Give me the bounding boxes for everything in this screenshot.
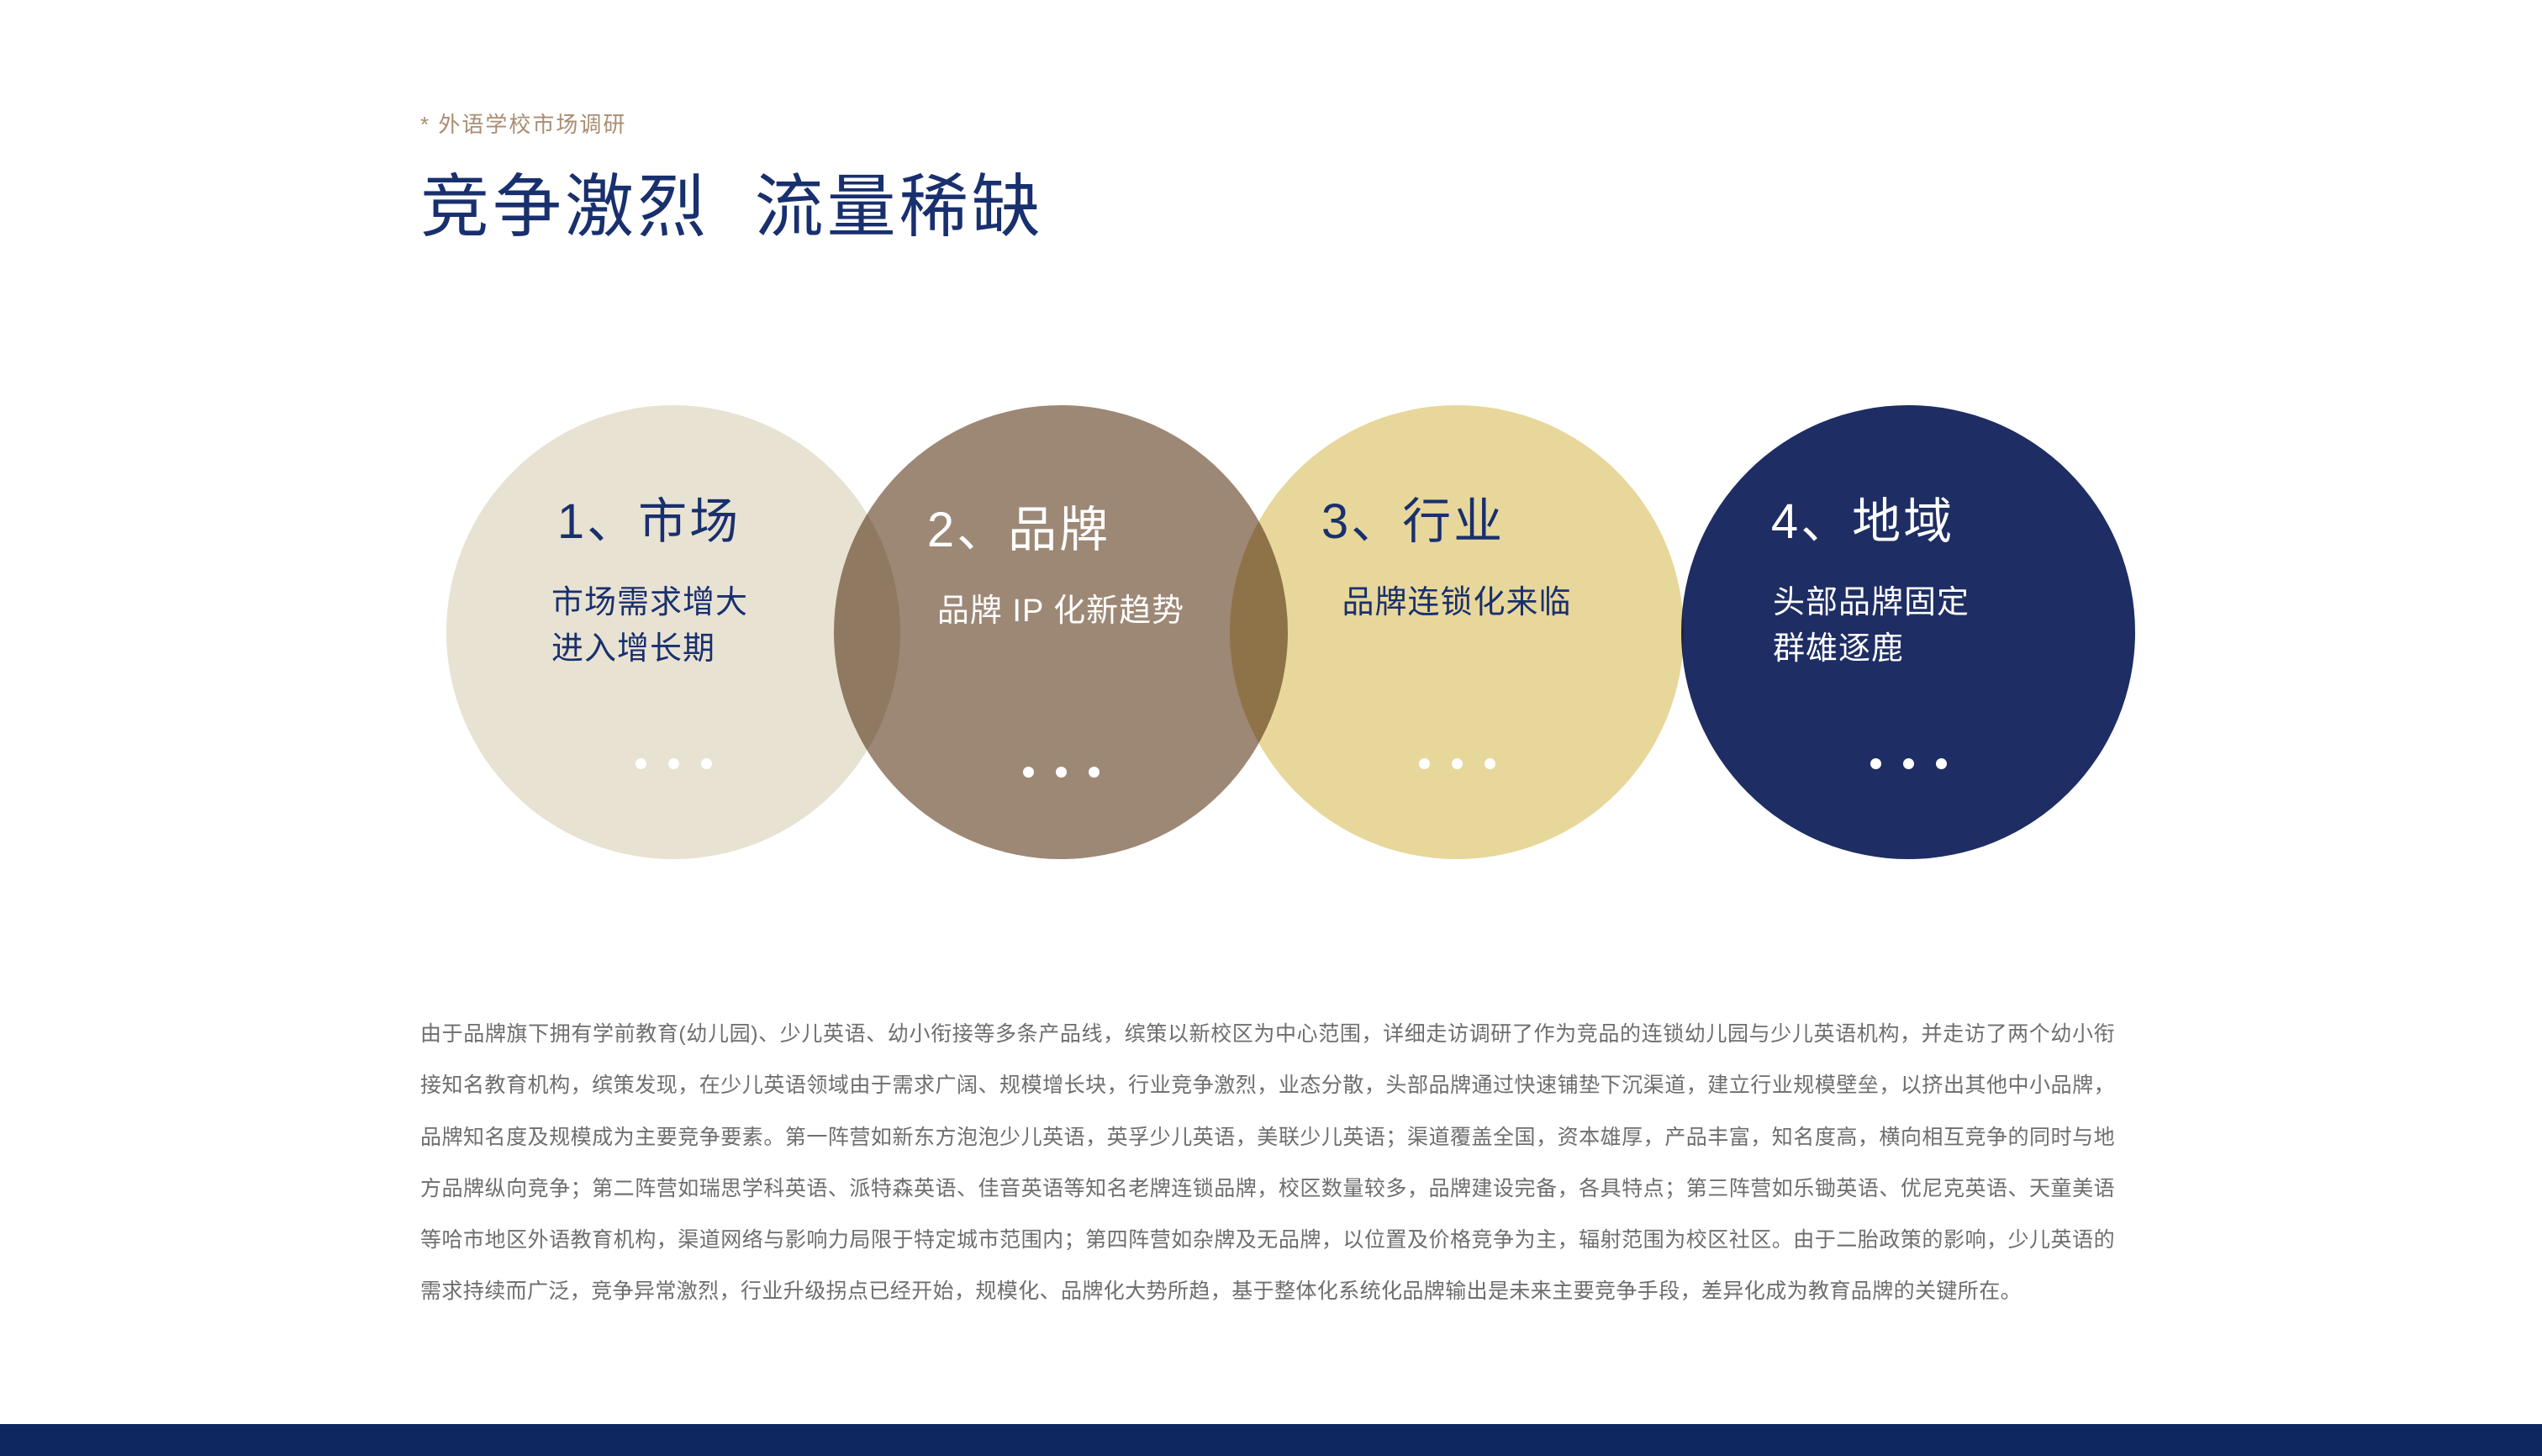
circle-region-content: 4、地域 头部品牌固定 群雄逐鹿 <box>1681 405 2135 859</box>
circle-industry-dots <box>1230 758 1684 769</box>
circle-market-description: 市场需求增大 进入增长期 <box>551 580 748 673</box>
dot-icon <box>1023 767 1034 778</box>
dot-icon <box>1903 758 1914 769</box>
dot-icon <box>668 758 679 769</box>
dot-icon <box>1936 758 1947 769</box>
circle-brand-content: 2、品牌 品牌 IP 化新趋势 <box>834 414 1288 868</box>
circle-region-heading: 4、地域 <box>1771 498 1954 546</box>
circle-diagram: 1、市场 市场需求增大 进入增长期 2、品牌 品牌 IP 化新趋势 3、行业 品… <box>0 0 2542 1009</box>
circle-region-description: 头部品牌固定 群雄逐鹿 <box>1773 580 1970 673</box>
circle-region-dots <box>1681 758 2135 769</box>
circle-industry-content: 3、行业 品牌连锁化来临 <box>1230 405 1684 859</box>
circle-market-dots <box>446 758 900 769</box>
dot-icon <box>1485 758 1495 769</box>
circle-market-heading: 1、市场 <box>557 498 741 546</box>
footer-bar <box>0 1424 2542 1456</box>
circle-industry-heading: 3、行业 <box>1321 498 1505 546</box>
circle-brand-dots <box>834 767 1288 778</box>
circle-market-content: 1、市场 市场需求增大 进入增长期 <box>446 405 900 859</box>
circle-brand-description: 品牌 IP 化新趋势 <box>937 588 1184 635</box>
dot-icon <box>701 758 712 769</box>
dot-icon <box>635 758 646 769</box>
dot-icon <box>1056 767 1067 778</box>
dot-icon <box>1419 758 1430 769</box>
dot-icon <box>1089 767 1100 778</box>
dot-icon <box>1870 758 1881 769</box>
circle-industry-description: 品牌连锁化来临 <box>1342 580 1571 626</box>
circle-brand-heading: 2、品牌 <box>927 506 1110 555</box>
dot-icon <box>1452 758 1463 769</box>
body-paragraph: 由于品牌旗下拥有学前教育(幼儿园)、少儿英语、幼小衔接等多条产品线，缤策以新校区… <box>420 1009 2115 1318</box>
